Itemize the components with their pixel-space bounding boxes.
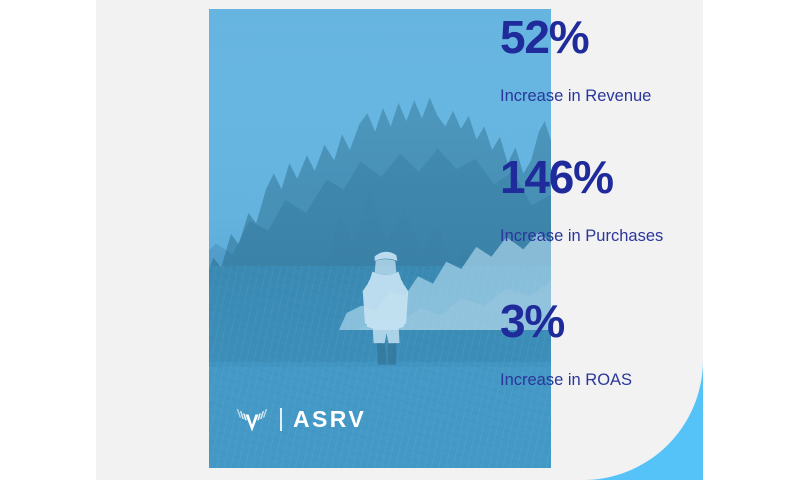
stat-item: 146% Increase in Purchases [500,154,700,247]
asrv-wing-icon [235,406,269,432]
slide-canvas: ASRV 52% Increase in Revenue 146% Increa… [0,0,800,480]
photo-athlete-figure [353,220,418,367]
asrv-brand-lockup: ASRV [235,406,366,432]
stat-label: Increase in Purchases [500,227,700,247]
stat-item: 3% Increase in ROAS [500,298,700,391]
stat-value: 146% [500,154,700,201]
results-stats-list: 52% Increase in Revenue 146% Increase in… [500,0,700,480]
stat-value: 52% [500,14,700,61]
brand-wordmark: ASRV [293,408,366,431]
brand-divider [280,408,282,431]
stat-label: Increase in Revenue [500,87,700,107]
stat-item: 52% Increase in Revenue [500,14,700,107]
stat-label: Increase in ROAS [500,371,700,391]
stat-value: 3% [500,298,700,345]
